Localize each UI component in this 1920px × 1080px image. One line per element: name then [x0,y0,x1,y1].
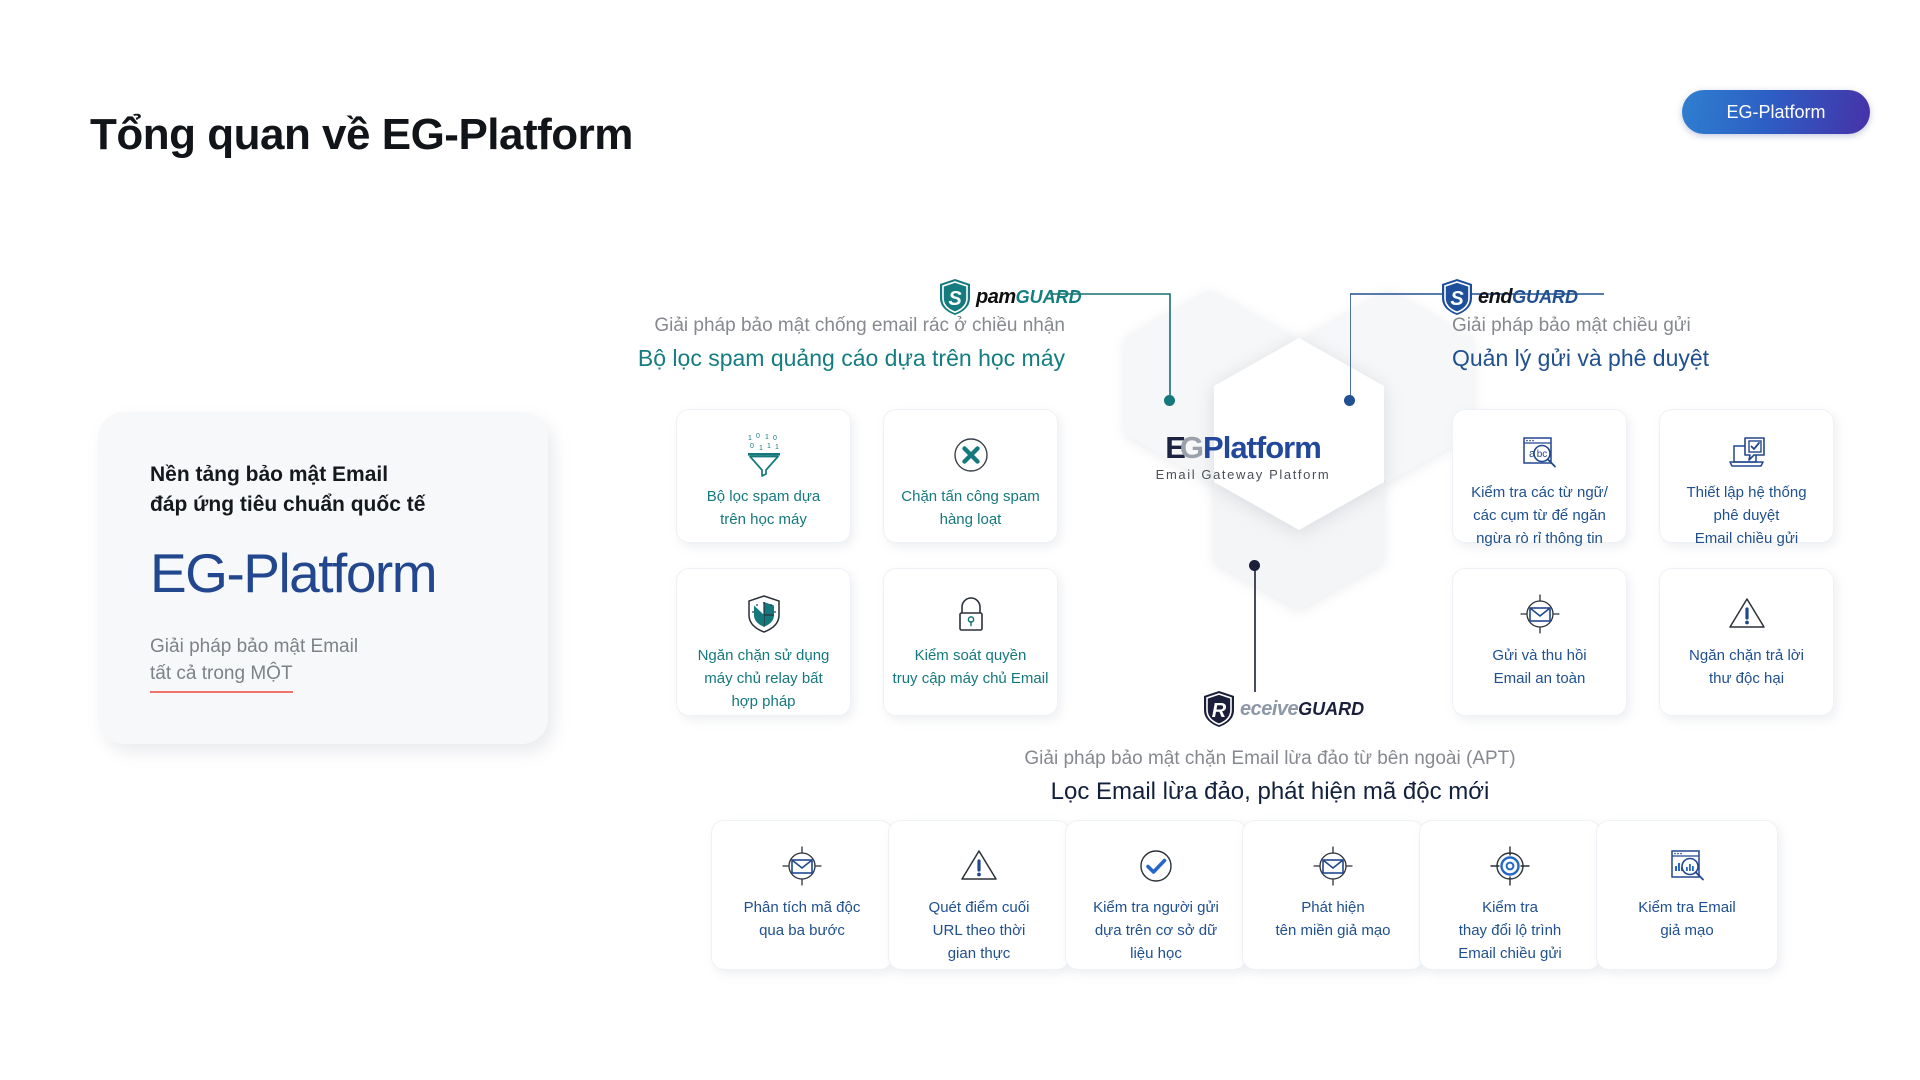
spamguard-wordmark: pamGUARD [976,287,1082,307]
hero-heading: Nền tảng bảo mật Email đáp ứng tiêu chuẩ… [150,460,548,520]
spamguard-logo: S pamGUARD [938,278,1082,316]
card-label: Quét điểm cuối URL theo thời gian thực [921,897,1038,965]
funnel-binary-icon: 1010 0111 [741,430,787,480]
svg-text:1: 1 [759,445,763,452]
svg-text:1: 1 [765,434,769,441]
hero-sub-line1: Giải pháp bảo mật Email [150,633,548,661]
section-kicker-spam: Giải pháp bảo mật chống email rác ở chiề… [585,312,1065,341]
hero-heading-line2: đáp ứng tiêu chuẩn quốc tế [150,490,548,520]
receiveguard-wordmark: eceiveGUARD [1240,699,1364,719]
svg-text:0: 0 [756,433,760,440]
svg-text:1: 1 [767,443,771,450]
card-label: Kiểm tra người gửi dựa trên cơ sở dữ liệ… [1085,897,1227,965]
logo-tagline: Email Gateway Platform [1148,467,1338,482]
svg-text:1: 1 [748,435,752,442]
eg-platform-badge[interactable]: EG-Platform [1682,90,1870,134]
card-recv-url-realtime-scan[interactable]: Quét điểm cuối URL theo thời gian thực [888,820,1070,970]
card-label: Kiểm tra các từ ngữ/ các cụm từ để ngăn … [1463,482,1616,550]
card-send-approval-system[interactable]: Thiết lập hệ thống phê duyệt Email chiều… [1659,409,1834,543]
svg-text:0: 0 [750,443,754,450]
card-label: Ngăn chặn trả lời thư độc hại [1681,645,1812,691]
svg-text:S: S [1450,288,1464,310]
section-kicker-send: Giải pháp bảo mật chiều gửi [1452,312,1912,341]
shield-quarters-icon [741,589,787,639]
x-circle-icon [948,430,994,480]
card-label: Phát hiện tên miền giả mạo [1267,897,1398,943]
section-header-send: Giải pháp bảo mật chiều gửi Quản lý gửi … [1452,312,1912,375]
envelope-target-icon [1309,841,1357,891]
section-headline-send: Quản lý gửi và phê duyệt [1452,342,1912,375]
envelope-target-icon [1516,589,1564,639]
connector-dot-receive [1249,560,1260,571]
card-label: Gửi và thu hồi Email an toàn [1484,645,1594,691]
card-label: Kiểm soát quyền truy cập máy chủ Email [885,645,1057,691]
card-spam-access-control[interactable]: Kiểm soát quyền truy cập máy chủ Email [883,568,1058,716]
abc-magnifier-icon: a bc [1516,430,1564,476]
connector-dot-send [1344,395,1355,406]
card-label: Phân tích mã độc qua ba bước [736,897,869,943]
document-chart-magnifier-icon [1663,841,1711,891]
shield-icon: R [1202,690,1236,728]
logo-word-platform: Platform [1203,430,1321,465]
connector-dot-spam [1164,395,1175,406]
connector-spam [1050,290,1300,410]
card-recv-spoofed-email-check[interactable]: Kiểm tra Email giả mạo [1596,820,1778,970]
card-spam-relay-block[interactable]: Ngăn chặn sử dụng máy chủ relay bất hợp … [676,568,851,716]
svg-text:bc: bc [1536,449,1547,460]
eg-platform-center-logo: EGPlatform Email Gateway Platform [1148,432,1338,482]
card-label: Bộ lọc spam dựa trên học máy [699,486,828,532]
card-spam-ml-filter[interactable]: 1010 0111 Bộ lọc spam dựa trên học máy [676,409,851,543]
hero-card: Nền tảng bảo mật Email đáp ứng tiêu chuẩ… [98,412,548,744]
section-headline-spam: Bộ lọc spam quảng cáo dựa trên học máy [585,342,1065,375]
hero-brand: EG-Platform [150,546,548,601]
envelope-target-icon [778,841,826,891]
svg-text:1: 1 [775,444,779,451]
card-send-keyword-check[interactable]: a bc Kiểm tra các từ ngữ/ các cụm từ để … [1452,409,1627,543]
warning-triangle-icon [955,841,1003,891]
hero-sub-line2: tất cả trong MỘT [150,660,293,693]
page-title: Tổng quan về EG-Platform [90,110,633,160]
card-recv-sender-verify[interactable]: Kiểm tra người gửi dựa trên cơ sở dữ liệ… [1065,820,1247,970]
section-header-spam: Giải pháp bảo mật chống email rác ở chiề… [585,312,1065,375]
card-label: Chặn tấn công spam hàng loạt [893,486,1047,532]
sendguard-logo: S endGUARD [1440,278,1578,316]
connector-receive [1250,564,1270,694]
check-circle-icon [1133,841,1179,891]
section-header-receive: Giải pháp bảo mật chặn Email lừa đảo từ … [860,745,1680,809]
svg-text:R: R [1212,700,1227,722]
hero-heading-line1: Nền tảng bảo mật Email [150,460,548,490]
card-recv-fake-domain-detect[interactable]: Phát hiện tên miền giả mạo [1242,820,1424,970]
svg-text:S: S [948,288,962,310]
card-label: Ngăn chặn sử dụng máy chủ relay bất hợp … [690,645,838,713]
shield-icon: S [938,278,972,316]
card-send-block-malicious-reply[interactable]: Ngăn chặn trả lời thư độc hại [1659,568,1834,716]
card-label: Thiết lập hệ thống phê duyệt Email chiều… [1678,482,1814,550]
shield-icon: S [1440,278,1474,316]
warning-triangle-icon [1723,589,1771,639]
card-label: Kiểm tra thay đổi lộ trình Email chiều g… [1450,897,1569,965]
card-send-recall-email[interactable]: Gửi và thu hồi Email an toàn [1452,568,1627,716]
sendguard-wordmark: endGUARD [1478,287,1578,307]
hero-subtext: Giải pháp bảo mật Email tất cả trong MỘT [150,633,548,693]
section-headline-receive: Lọc Email lừa đảo, phát hiện mã độc mới [860,775,1680,810]
slide-canvas: Tổng quan về EG-Platform EG-Platform Nền… [0,0,1920,1080]
card-recv-malware-3step[interactable]: Phân tích mã độc qua ba bước [711,820,893,970]
laptop-approval-icon [1723,430,1771,476]
svg-text:0: 0 [773,435,777,442]
crosshair-target-icon [1486,841,1534,891]
card-label: Kiểm tra Email giả mạo [1630,897,1744,943]
card-spam-block-bulk[interactable]: Chặn tấn công spam hàng loạt [883,409,1058,543]
section-kicker-receive: Giải pháp bảo mật chặn Email lừa đảo từ … [860,745,1680,774]
card-recv-route-change-check[interactable]: Kiểm tra thay đổi lộ trình Email chiều g… [1419,820,1601,970]
logo-letter-g: G [1180,430,1203,465]
padlock-icon [948,589,994,639]
receiveguard-logo: R eceiveGUARD [1202,690,1364,728]
